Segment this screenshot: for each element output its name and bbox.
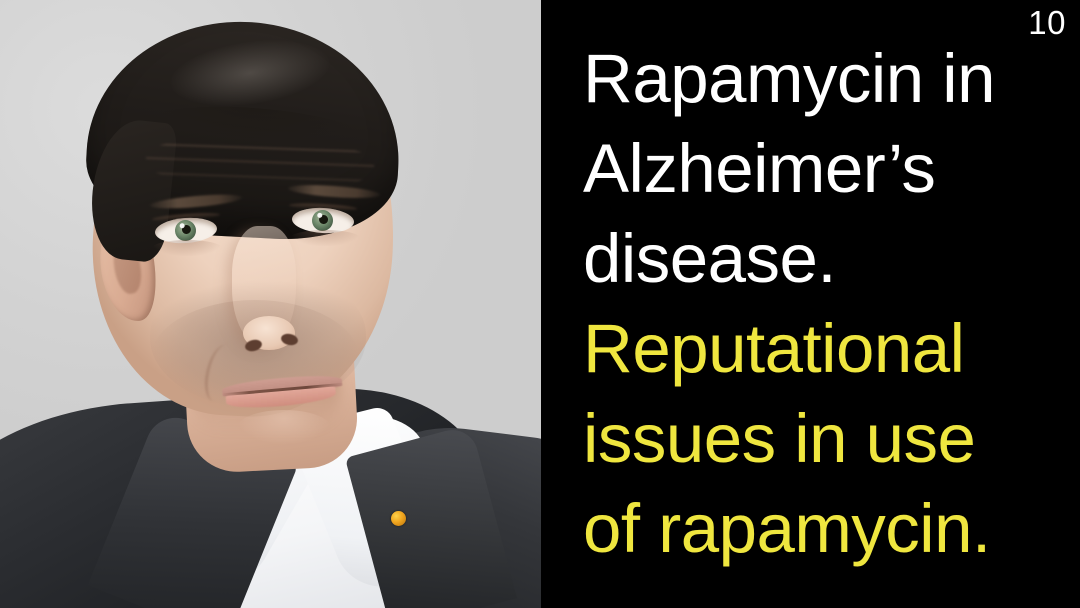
undereye-right <box>290 230 360 246</box>
title-line-5: issues in use <box>583 394 1063 484</box>
speaker-portrait-photo <box>0 0 541 608</box>
title-panel: 10 Rapamycin in Alzheimer’s disease. Rep… <box>541 0 1080 608</box>
lapel-pin-icon <box>391 511 406 526</box>
presentation-slide: 10 Rapamycin in Alzheimer’s disease. Rep… <box>0 0 1080 608</box>
title-line-3: disease. <box>583 214 1063 304</box>
slide-title: Rapamycin in Alzheimer’s disease. Reputa… <box>583 34 1063 574</box>
undereye-left <box>152 240 222 256</box>
title-line-4: Reputational <box>583 304 1063 394</box>
title-line-6: of rapamycin. <box>583 484 1063 574</box>
chin <box>238 410 330 444</box>
title-line-1: Rapamycin in <box>583 34 1063 124</box>
title-line-2: Alzheimer’s <box>583 124 1063 214</box>
